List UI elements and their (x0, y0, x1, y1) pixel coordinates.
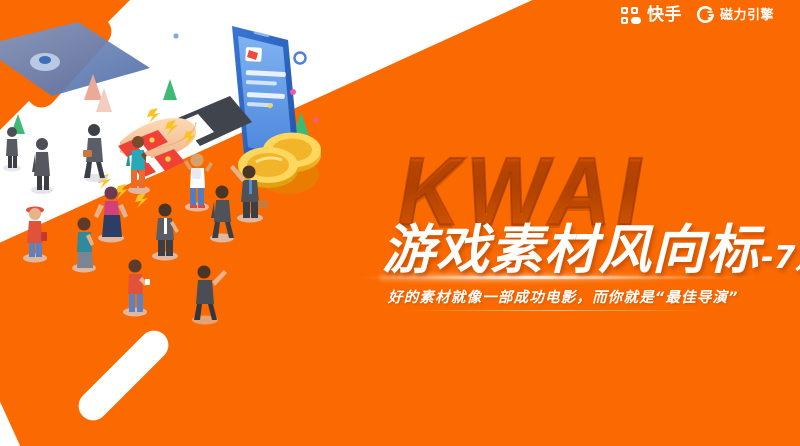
isometric-illustration (0, 0, 420, 360)
crowd-of-people-graphic (3, 124, 268, 325)
magnetic-engine-brand-label: 磁力引擎 (720, 9, 774, 22)
map-plate-graphic (0, 22, 150, 96)
subtitle-underline (405, 310, 705, 311)
hero-subtitle: 好的素材就像一部成功电影，而你就是“最佳导演” (388, 286, 739, 307)
hero-title-main: 游戏素材风向标 (382, 208, 760, 284)
kwai-smiley-logo-icon (620, 6, 642, 25)
magnetic-engine-logo-icon (696, 6, 715, 25)
hero-title-suffix: -7月 (761, 232, 800, 277)
brand-logo-bar: 快手 磁力引擎 (620, 6, 774, 25)
hero-title: 游戏素材风向标-7月 (382, 208, 800, 284)
slide-canvas: KWAI KWAI 游戏素材风向标-7月 好的素材就像一部成功电影，而你就是“最… (0, 0, 800, 446)
kwai-brand-label: 快手 (647, 7, 682, 24)
magnetic-engine-brand-logo[interactable]: 磁力引擎 (696, 6, 774, 25)
kwai-brand-logo[interactable]: 快手 (620, 6, 682, 25)
hand-with-rockets-graphic (98, 96, 252, 208)
